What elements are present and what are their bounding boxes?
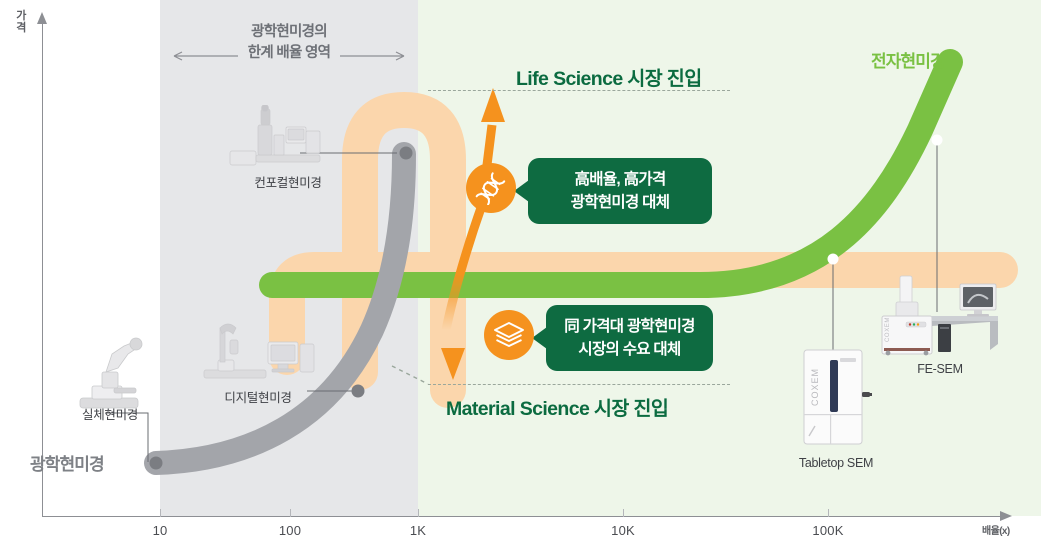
data-point-fe-sem[interactable]: [932, 135, 943, 146]
life-bubble-line1: 高배율, 高가격: [571, 168, 670, 191]
x-tick-label-100: 100: [279, 523, 301, 538]
x-tick-mark-1k: [418, 509, 419, 517]
life-bubble-tail: [514, 180, 529, 202]
confocal-microscope-caption: 컨포컬현미경: [254, 172, 321, 191]
digital-microscope-illustration: [200, 318, 320, 386]
svg-text:COXEM: COXEM: [885, 317, 891, 342]
tabletop-sem-illustration: COXEM: [800, 348, 872, 448]
tabletop-sem-caption: Tabletop SEM: [799, 456, 873, 470]
limit-zone-line1: 광학현미경의: [160, 22, 418, 43]
data-point-tabletop-sem[interactable]: [828, 254, 839, 265]
x-tick-mark-10k: [623, 509, 624, 517]
y-axis-label: 가격: [12, 10, 30, 34]
optical-limit-zone-annotation: 광학현미경의 한계 배율 영역: [160, 22, 418, 84]
material-bubble-line2: 시장의 수요 대체: [564, 338, 695, 361]
y-axis-line: [42, 22, 43, 516]
limit-arrow-left-icon: [170, 51, 238, 61]
x-tick-mark-10: [160, 509, 161, 517]
data-point-confocal-microscope[interactable]: [400, 147, 413, 160]
life-science-heading: Life Science 시장 진입: [516, 62, 702, 91]
dna-icon: [466, 163, 516, 213]
y-axis-arrowhead: [37, 12, 47, 24]
x-tick-mark-100: [290, 509, 291, 517]
infographic-canvas: 가격 배율(x) 10 100 1K 10K 100K 광학현미경의 한계 배율…: [0, 0, 1041, 559]
material-rule-connector: [392, 366, 428, 384]
material-science-dashed-rule: [428, 384, 730, 385]
x-axis-label: 배율(x): [982, 522, 1010, 537]
fe-sem-caption: FE-SEM: [917, 362, 962, 376]
data-point-digital-microscope[interactable]: [352, 385, 365, 398]
layers-icon: [484, 310, 534, 360]
stereo-microscope-illustration: [62, 332, 158, 414]
stereo-microscope-caption: 실체현미경: [82, 404, 138, 423]
electron-microscope-curve-label: 전자현미경: [871, 47, 945, 72]
life-science-callout-bubble[interactable]: 高배율, 高가격 광학현미경 대체: [528, 158, 712, 224]
life-bubble-line2: 광학현미경 대체: [571, 191, 670, 214]
x-tick-label-10: 10: [153, 523, 168, 538]
data-point-stereo-microscope[interactable]: [150, 457, 163, 470]
limit-arrow-right-icon: [340, 51, 408, 61]
confocal-microscope-illustration: [228, 105, 324, 167]
material-bubble-line1: 同 가격대 광학현미경: [564, 315, 695, 338]
x-tick-mark-100k: [828, 509, 829, 517]
x-axis-line: [42, 516, 1004, 517]
x-tick-label-1k: 1K: [410, 523, 426, 538]
x-tick-label-100k: 100K: [812, 523, 843, 538]
material-bubble-tail: [532, 327, 547, 349]
material-science-callout-bubble[interactable]: 同 가격대 광학현미경 시장의 수요 대체: [546, 305, 713, 371]
material-science-heading: Material Science 시장 진입: [446, 392, 668, 421]
fe-sem-illustration: COXEM: [878, 272, 1003, 356]
optical-microscope-curve-label: 광학현미경: [30, 450, 104, 475]
svg-text:COXEM: COXEM: [810, 368, 820, 406]
x-axis-arrowhead: [1000, 511, 1012, 521]
digital-microscope-caption: 디지털현미경: [224, 387, 291, 406]
x-tick-label-10k: 10K: [611, 523, 635, 538]
